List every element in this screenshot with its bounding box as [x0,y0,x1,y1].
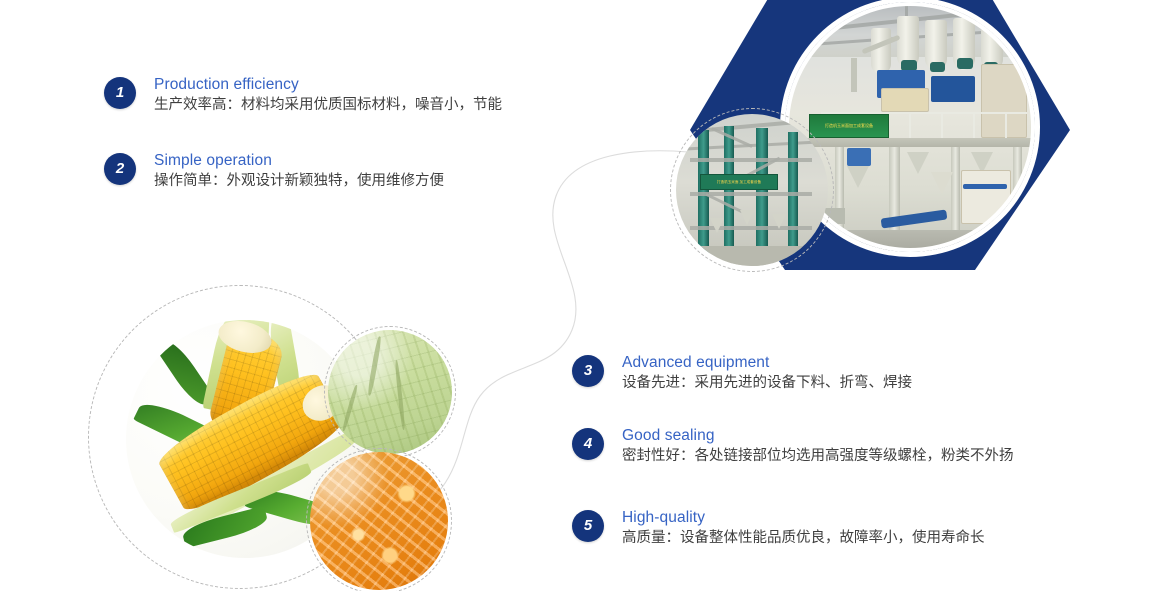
feature-item-3: 3 Advanced equipment 设备先进：采用先进的设备下料、折弯、焊… [572,353,912,394]
feature-badge-5: 5 [572,510,604,542]
feature-badge-4: 4 [572,428,604,460]
feature-desc-2: 操作简单：外观设计新颖独特，使用维修方便 [154,171,444,192]
feature-text-4: Good sealing 密封性好：各处链接部位均选用高强度等级螺栓，粉类不外扬 [622,426,1014,467]
feature-title-2: Simple operation [154,151,444,170]
corn-grits-photo [310,452,448,590]
feature-desc-4: 密封性好：各处链接部位均选用高强度等级螺栓，粉类不外扬 [622,446,1014,467]
line-banner: 打造机玉米面 加工成套设备 [700,174,778,190]
feature-text-2: Simple operation 操作简单：外观设计新颖独特，使用维修方便 [154,151,444,192]
feature-text-3: Advanced equipment 设备先进：采用先进的设备下料、折弯、焊接 [622,353,912,394]
feature-title-1: Production efficiency [154,75,502,94]
feature-title-5: High-quality [622,508,985,527]
infographic-canvas: 打造机玉米面加工成套设备 [0,0,1154,591]
feature-badge-1: 1 [104,77,136,109]
feature-text-1: Production efficiency 生产效率高：材料均采用优质国标材料，… [154,75,502,116]
feature-item-1: 1 Production efficiency 生产效率高：材料均采用优质国标材… [104,75,502,116]
feature-text-5: High-quality 高质量：设备整体性能品质优良，故障率小，使用寿命长 [622,508,985,549]
feature-item-4: 4 Good sealing 密封性好：各处链接部位均选用高强度等级螺栓，粉类不… [572,426,1014,467]
feature-desc-5: 高质量：设备整体性能品质优良，故障率小，使用寿命长 [622,528,985,549]
feature-desc-1: 生产效率高：材料均采用优质国标材料，噪音小，节能 [154,95,502,116]
corn-flour-paste-photo [328,330,452,454]
feature-title-4: Good sealing [622,426,1014,445]
feature-desc-3: 设备先进：采用先进的设备下料、折弯、焊接 [622,373,912,394]
feature-title-3: Advanced equipment [622,353,912,372]
corn-processing-line-photo: 打造机玉米面 加工成套设备 [676,114,828,266]
feature-badge-2: 2 [104,153,136,185]
feature-item-2: 2 Simple operation 操作简单：外观设计新颖独特，使用维修方便 [104,151,444,192]
feature-badge-3: 3 [572,355,604,387]
feature-item-5: 5 High-quality 高质量：设备整体性能品质优良，故障率小，使用寿命长 [572,508,985,549]
